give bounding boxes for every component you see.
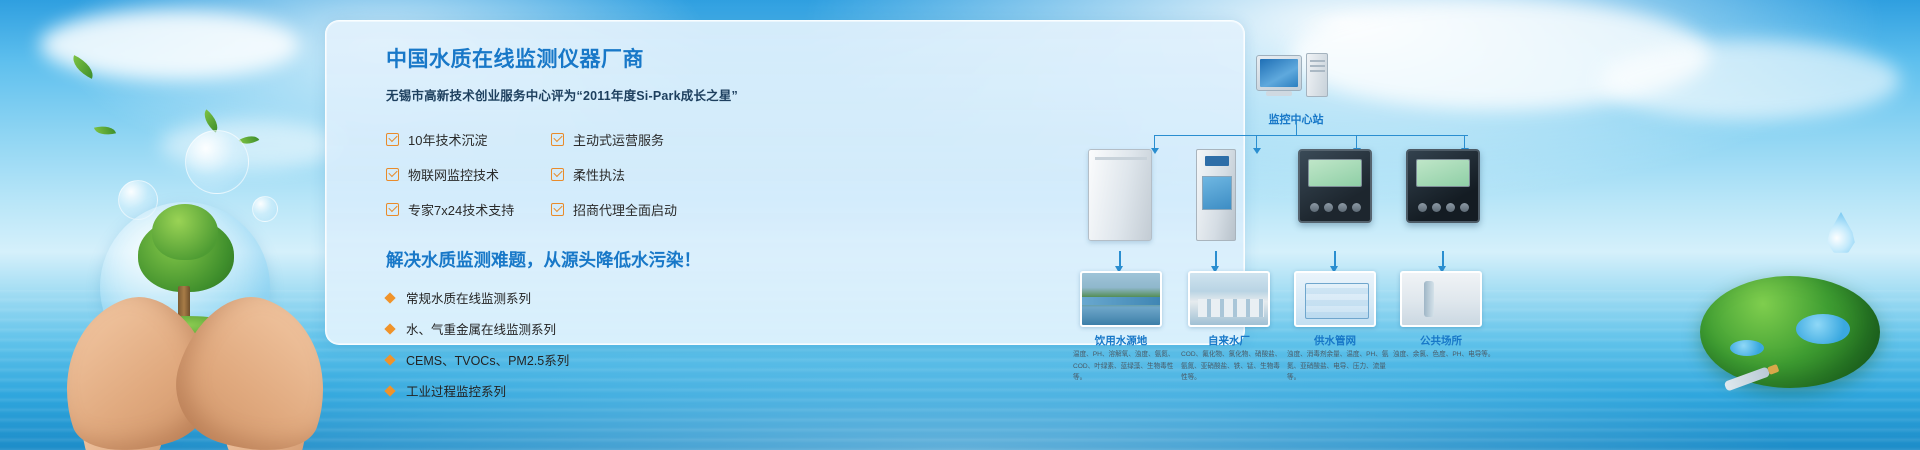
checklist-item-label: 物联网监控技术	[408, 165, 499, 184]
device-window	[1202, 176, 1232, 210]
scene-description: COD、氟化物、氯化物、硝酸盐、氨氮、亚硝酸盐、铁、锰、生物毒性等。	[1181, 349, 1285, 384]
checklist-item-label: 柔性执法	[573, 165, 625, 184]
diamond-bullet-icon	[384, 323, 395, 334]
list-item[interactable]: 工业过程监控系列	[386, 381, 746, 400]
scene-photo-waterworks	[1188, 271, 1270, 327]
device-top-panel	[1205, 156, 1229, 166]
checkbox-checked-icon	[386, 168, 399, 181]
diamond-bullet-icon	[384, 292, 395, 303]
list-item-label: CEMS、TVOCs、PM2.5系列	[406, 350, 569, 369]
monitoring-system-diagram: 监控中心站	[1066, 39, 1526, 369]
globe-lake	[1796, 314, 1850, 344]
arrow-down-icon	[1215, 251, 1217, 267]
device-lcd-screen	[1308, 159, 1362, 187]
checkbox-checked-icon	[551, 203, 564, 216]
monitor-screen	[1260, 59, 1298, 87]
panel-text-column: 中国水质在线监测仪器厂商 无锡市高新技术创业服务中心评为“2011年度Si-Pa…	[386, 43, 746, 400]
bus-drop-line	[1154, 135, 1155, 149]
list-item-label: 工业过程监控系列	[406, 381, 506, 400]
checklist-item-label: 10年技术沉淀	[408, 130, 487, 149]
checklist-item[interactable]: 物联网监控技术	[386, 165, 551, 184]
checkbox-checked-icon	[551, 168, 564, 181]
checklist-item[interactable]: 招商代理全面启动	[551, 200, 721, 219]
scene-description: 浊度、消毒剂余量、温度、PH、氨氮、亚硝酸盐、电导、压力、流量等。	[1287, 349, 1391, 384]
scene-label: 饮用水源地	[1066, 333, 1176, 348]
bus-horizontal-line	[1154, 135, 1468, 136]
leaf-icon	[94, 123, 116, 139]
monitor-base	[1266, 91, 1292, 96]
main-content-panel: 中国水质在线监测仪器厂商 无锡市高新技术创业服务中心评为“2011年度Si-Pa…	[325, 20, 1245, 345]
device-row	[1066, 149, 1526, 249]
list-item[interactable]: 水、气重金属在线监测系列	[386, 319, 746, 338]
checklist-item[interactable]: 柔性执法	[551, 165, 721, 184]
device-controller-icon	[1406, 149, 1480, 223]
application-scenes: 饮用水源地 自来水厂 供水管网 公共场所 温度、PH、溶解氧、浊度、氨氮、COD…	[1066, 271, 1526, 367]
list-item[interactable]: 常规水质在线监测系列	[386, 288, 746, 307]
checkbox-checked-icon	[386, 133, 399, 146]
device-buttons	[1310, 203, 1361, 212]
checklist-item[interactable]: 专家7x24技术支持	[386, 200, 551, 219]
monitor-icon	[1256, 55, 1302, 91]
arrow-down-icon	[1334, 251, 1336, 267]
device-cabinet-icon	[1088, 149, 1152, 241]
scene-label: 供水管网	[1280, 333, 1390, 348]
list-item-label: 常规水质在线监测系列	[406, 288, 531, 307]
scene-photo-drinking-water-source	[1080, 271, 1162, 327]
scene-label: 自来水厂	[1174, 333, 1284, 348]
list-item-label: 水、气重金属在线监测系列	[406, 319, 556, 338]
feature-checklist: 10年技术沉淀 主动式运营服务 物联网监控技术 柔性执法 专家7x24技术支持 …	[386, 130, 746, 219]
connection-bus	[1116, 135, 1506, 136]
device-lcd-screen	[1416, 159, 1470, 187]
globe-lake	[1730, 340, 1764, 356]
diamond-bullet-icon	[384, 354, 395, 365]
device-controller-icon	[1298, 149, 1372, 223]
diamond-bullet-icon	[384, 385, 395, 396]
bubble-decoration	[185, 130, 249, 194]
checklist-item[interactable]: 10年技术沉淀	[386, 130, 551, 149]
bus-stub	[1296, 121, 1297, 135]
page-subtitle: 无锡市高新技术创业服务中心评为“2011年度Si-Park成长之星”	[386, 85, 746, 104]
page-title: 中国水质在线监测仪器厂商	[386, 43, 746, 73]
bus-drop-line	[1464, 135, 1465, 149]
checklist-item-label: 招商代理全面启动	[573, 200, 677, 219]
product-series-list: 常规水质在线监测系列 水、气重金属在线监测系列 CEMS、TVOCs、PM2.5…	[386, 288, 746, 400]
device-analyzer-icon	[1196, 149, 1236, 241]
scene-photo-water-supply-network	[1294, 271, 1376, 327]
checklist-item-label: 主动式运营服务	[573, 130, 664, 149]
cloud-decoration	[1600, 40, 1900, 120]
globe-ball	[1700, 276, 1880, 388]
scene-description: 温度、PH、溶解氧、浊度、氨氮、COD、叶绿素、蓝绿藻、生物毒性等。	[1073, 349, 1177, 384]
device-buttons	[1418, 203, 1469, 212]
secondary-headline: 解决水质监测难题，从源头降低水污染！	[386, 247, 746, 272]
green-globe-illustration	[1700, 276, 1880, 388]
scene-label: 公共场所	[1386, 333, 1496, 348]
arrow-down-icon	[1119, 251, 1121, 267]
pc-tower-icon	[1306, 53, 1328, 97]
scene-description: 浊度、余氯、色度、PH、电导等。	[1393, 349, 1497, 361]
tree-canopy-icon	[152, 204, 218, 260]
hands-holding-tree-illustration	[60, 190, 330, 450]
control-center-computer-icon	[1256, 53, 1336, 105]
checklist-item-label: 专家7x24技术支持	[408, 200, 514, 219]
checkbox-checked-icon	[386, 203, 399, 216]
bus-drop-line	[1256, 135, 1257, 149]
checklist-item[interactable]: 主动式运营服务	[551, 130, 721, 149]
scene-photo-public-place	[1400, 271, 1482, 327]
arrow-down-icon	[1442, 251, 1444, 267]
checkbox-checked-icon	[551, 133, 564, 146]
list-item[interactable]: CEMS、TVOCs、PM2.5系列	[386, 350, 746, 369]
bus-drop-line	[1356, 135, 1357, 149]
